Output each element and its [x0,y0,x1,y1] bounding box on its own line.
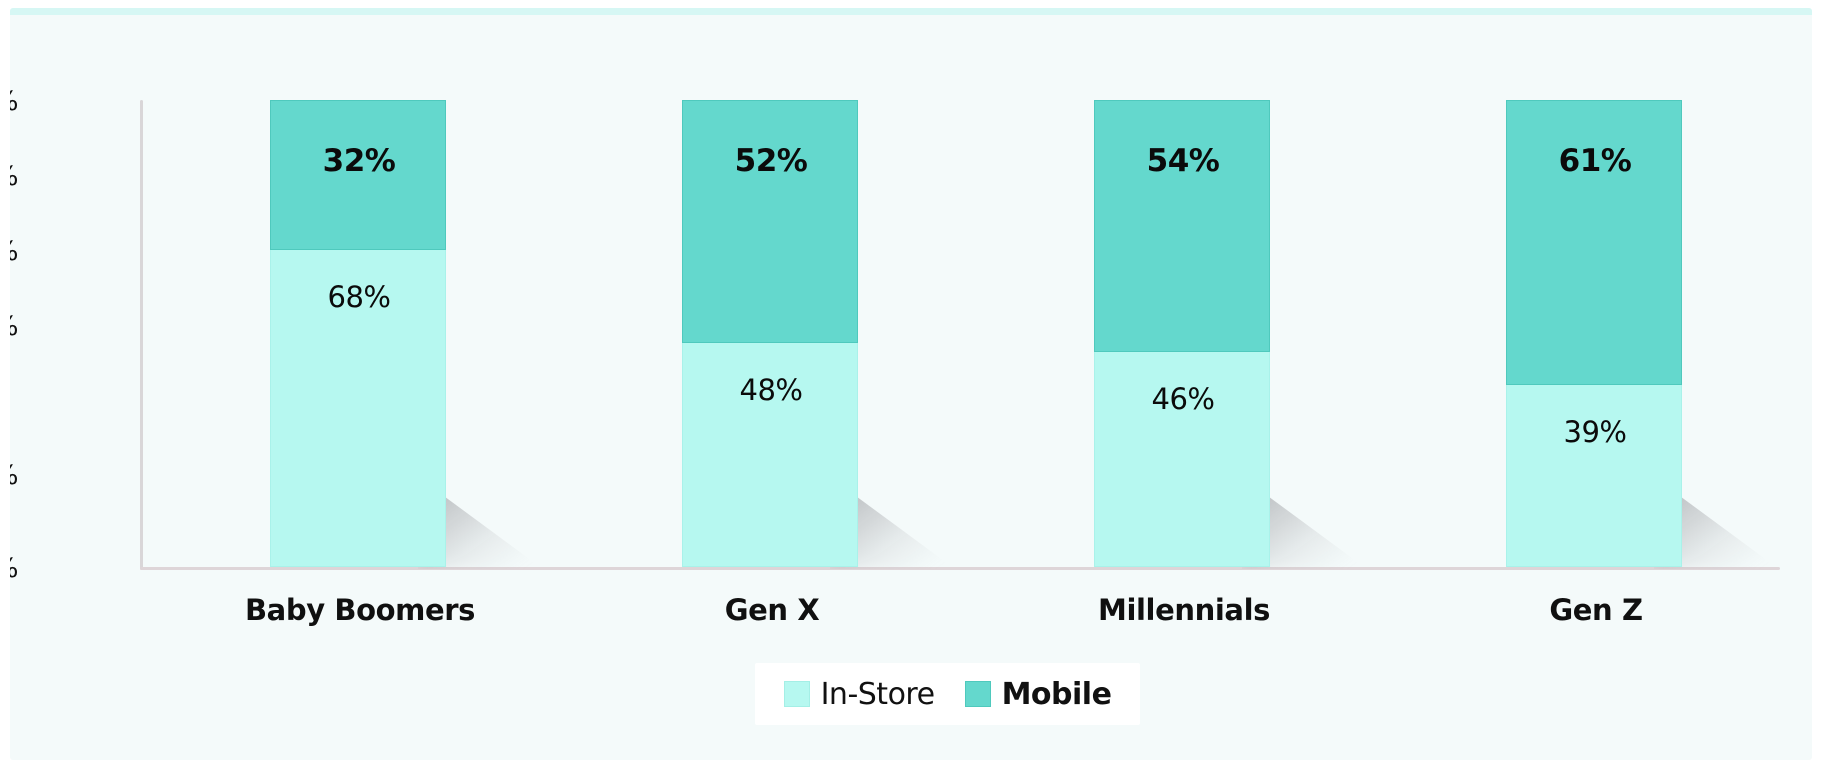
bar-value-instore: 68% [271,280,447,314]
bar-value-instore: 46% [1095,382,1271,416]
bar-segment-mobile[interactable]: 54% [1094,100,1270,352]
bar-group-gen-z[interactable]: 61% 39% [1506,187,1682,567]
legend-swatch-icon-in-store [784,681,810,707]
chart-card: 100% 80% 60% 40% 20% 0% 32% 68% 52% [10,8,1812,760]
legend-swatch-icon-mobile [965,681,991,707]
category-label-millennials: Millennials [1034,593,1334,627]
chart-legend: In-Store Mobile [755,663,1140,725]
bar-value-mobile: 61% [1507,143,1683,179]
bar-segment-mobile[interactable]: 61% [1506,100,1682,385]
y-tick-label-40: 40% [10,311,18,342]
bar-segment-instore[interactable]: 68% [270,250,446,567]
bar-value-instore: 39% [1507,415,1683,449]
category-label-baby-boomers: Baby Boomers [210,593,510,627]
bar-segment-instore[interactable]: 48% [682,343,858,567]
bar-stack: 61% 39% [1506,100,1682,567]
y-tick-label-20: 20% [10,460,18,491]
plot-area: 32% 68% 52% 48% [140,100,1780,570]
y-axis-line [140,100,143,570]
bar-group-baby-boomers[interactable]: 32% 68% [270,187,446,567]
bar-value-instore: 48% [683,373,859,407]
x-axis-line [140,567,1780,570]
bar-group-millennials[interactable]: 54% 46% [1094,187,1270,567]
bar-segment-instore[interactable]: 46% [1094,352,1270,567]
bar-segment-mobile[interactable]: 32% [270,100,446,250]
legend-label-in-store: In-Store [821,677,935,712]
category-label-gen-x: Gen X [622,593,922,627]
legend-label-mobile: Mobile [1002,677,1112,712]
legend-item-in-store[interactable]: In-Store [784,677,935,712]
bar-stack: 32% 68% [270,100,446,567]
y-tick-label-100: 100% [10,86,18,117]
bar-stack: 52% 48% [682,100,858,567]
bar-stack: 54% 46% [1094,100,1270,567]
y-tick-label-80: 80% [10,161,18,192]
bar-segment-instore[interactable]: 39% [1506,385,1682,567]
top-accent-bar [10,8,1812,15]
y-tick-label-60: 60% [10,236,18,267]
bar-segment-mobile[interactable]: 52% [682,100,858,343]
bar-value-mobile: 52% [683,143,859,179]
bar-value-mobile: 54% [1095,143,1271,179]
bar-value-mobile: 32% [271,143,447,179]
legend-item-mobile[interactable]: Mobile [965,677,1112,712]
bar-group-gen-x[interactable]: 52% 48% [682,187,858,567]
category-label-gen-z: Gen Z [1446,593,1746,627]
y-tick-label-0: 0% [10,553,18,584]
